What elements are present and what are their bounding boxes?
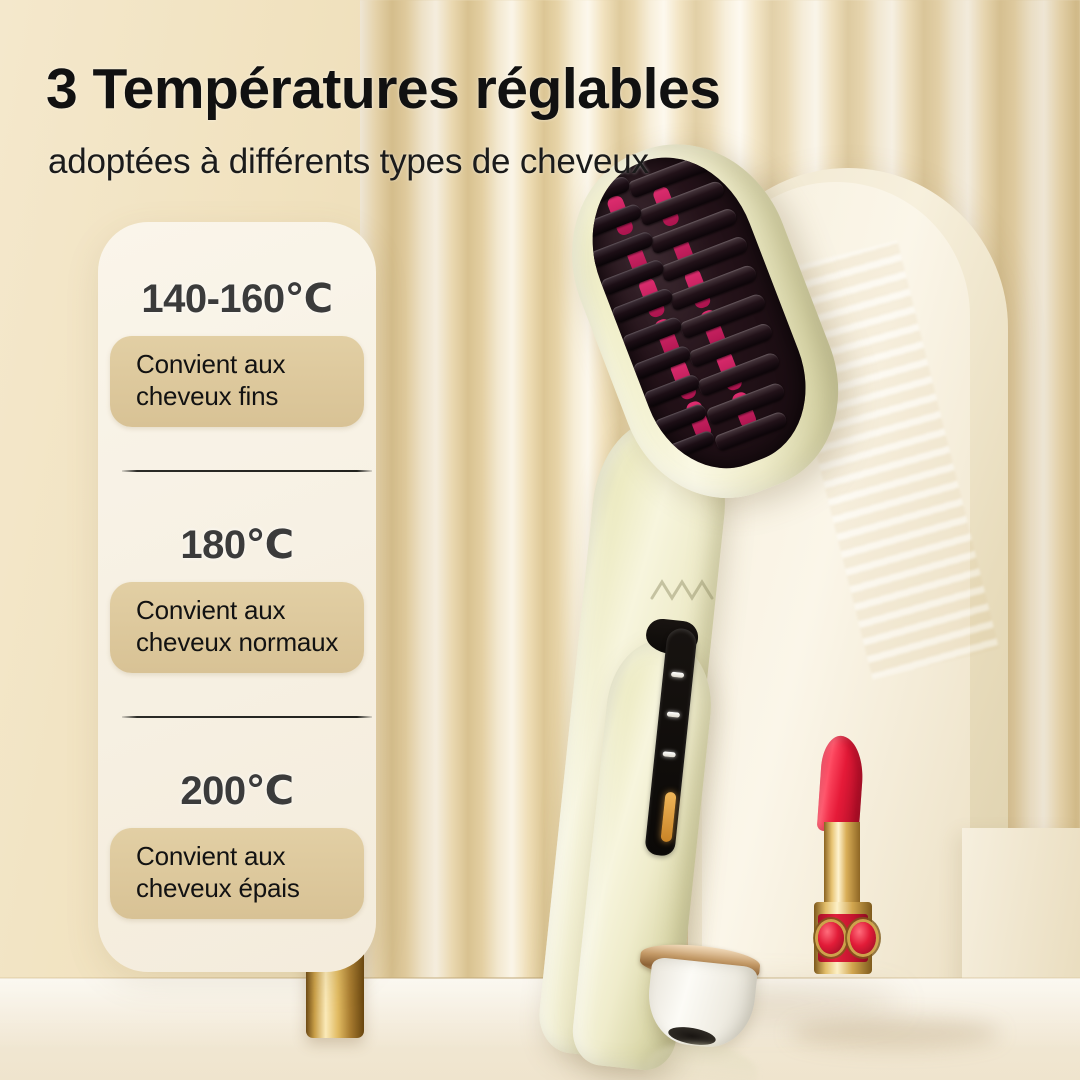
temperature-block-3: 200℃ Convient aux cheveux épais — [98, 768, 376, 919]
lipstick-gem-left — [818, 922, 844, 954]
hair-type-pill-2: Convient aux cheveux normaux — [110, 582, 364, 673]
temperature-settings-card: 140-160℃ Convient aux cheveux fins 180℃ … — [98, 222, 376, 972]
page-title: 3 Températures réglables — [46, 60, 846, 120]
temperature-block-1: 140-160℃ Convient aux cheveux fins — [98, 276, 376, 427]
divider-1 — [122, 470, 372, 472]
handle-chevron-marks — [648, 576, 722, 602]
lipstick-bullet — [817, 735, 866, 834]
temperature-block-2: 180℃ Convient aux cheveux normaux — [98, 522, 376, 673]
hair-type-line-1b: cheveux fins — [110, 381, 364, 413]
hair-type-line-3b: cheveux épais — [110, 873, 364, 905]
lipstick-tube — [816, 968, 870, 1080]
hair-type-pill-1: Convient aux cheveux fins — [110, 336, 364, 427]
temperature-value-3: 200℃ — [98, 768, 376, 814]
temperature-value-1: 140-160℃ — [98, 276, 376, 322]
temperature-value-2: 180℃ — [98, 522, 376, 568]
lipstick-gem-right — [850, 922, 876, 954]
divider-2 — [122, 716, 372, 718]
led-indicator-1 — [671, 672, 684, 678]
hair-type-line-3a: Convient aux — [110, 841, 364, 873]
lipstick-inner-sleeve — [824, 822, 860, 908]
led-indicator-2 — [667, 711, 680, 717]
hair-type-line-2b: cheveux normaux — [110, 627, 364, 659]
product-feature-image: 3 Températures réglables adoptées à diff… — [0, 0, 1080, 1080]
hair-type-line-2a: Convient aux — [110, 595, 364, 627]
hair-type-pill-3: Convient aux cheveux épais — [110, 828, 364, 919]
page-subtitle: adoptées à différents types de cheveux — [48, 142, 808, 182]
hair-type-line-1a: Convient aux — [110, 349, 364, 381]
led-indicator-3 — [662, 751, 675, 757]
lipstick — [806, 736, 876, 1038]
hair-straightener-brush — [560, 120, 940, 1040]
